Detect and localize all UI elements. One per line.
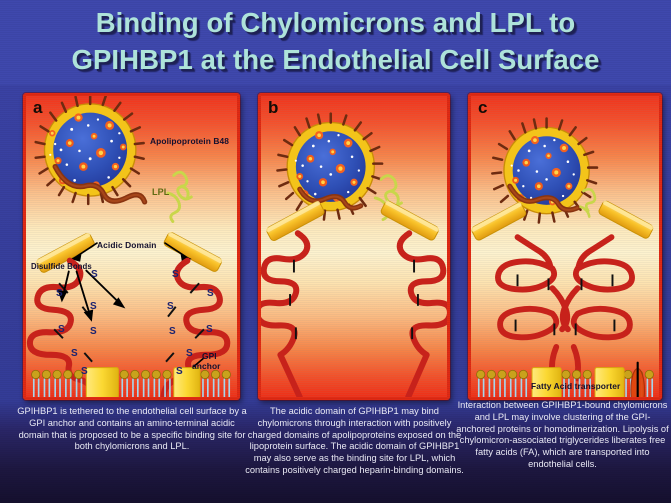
s-mark: S (56, 288, 63, 299)
figure-canvas: Binding of Chylomicrons and LPL to GPIHB… (0, 0, 671, 503)
s-mark: S (90, 326, 97, 337)
panel-c-diagram (471, 96, 659, 397)
caption-panel-b: The acidic domain of GPIHBP1 may bind ch… (244, 406, 465, 477)
panel-b-letter: b (268, 98, 278, 118)
caption-panel-c: Interaction between GPIHBP1-bound chylom… (456, 400, 669, 471)
gpihbp1-right-chain (400, 233, 447, 397)
s-mark: S (206, 324, 213, 335)
gpihbp1-clustered-chains (498, 237, 632, 378)
disulfide-s-letters: S S S S S S S S S S S S S S (26, 96, 237, 397)
panel-c-letter: c (478, 98, 487, 118)
fatty-acid-transporter (631, 363, 645, 397)
title-line-2: GPIHBP1 at the Endothelial Cell Surface (0, 41, 671, 78)
s-mark: S (207, 288, 214, 299)
s-mark: S (172, 269, 179, 280)
figure-title: Binding of Chylomicrons and LPL to GPIHB… (0, 4, 671, 78)
s-mark: S (169, 326, 176, 337)
s-mark: S (90, 301, 97, 312)
panel-b: b (258, 93, 450, 400)
s-mark: S (81, 366, 88, 377)
title-line-1: Binding of Chylomicrons and LPL to (0, 4, 671, 41)
panel-a-letter: a (33, 98, 42, 118)
panel-b-diagram (261, 96, 447, 397)
s-mark: S (58, 324, 65, 335)
panel-c: c (468, 93, 662, 400)
gpihbp1-left-chain (261, 233, 307, 397)
panel-a: a (23, 93, 240, 400)
disulfide-bond-bars (290, 260, 418, 339)
fatty-acid-transporter-label: Fatty Acid transporter (531, 381, 620, 391)
s-mark: S (176, 366, 183, 377)
s-mark: S (186, 348, 193, 359)
s-mark: S (167, 301, 174, 312)
caption-panel-a: GPIHBP1 is tethered to the endothelial c… (14, 406, 250, 453)
chylomicron-particle (277, 114, 382, 220)
s-mark: S (91, 269, 98, 280)
s-mark: S (71, 348, 78, 359)
